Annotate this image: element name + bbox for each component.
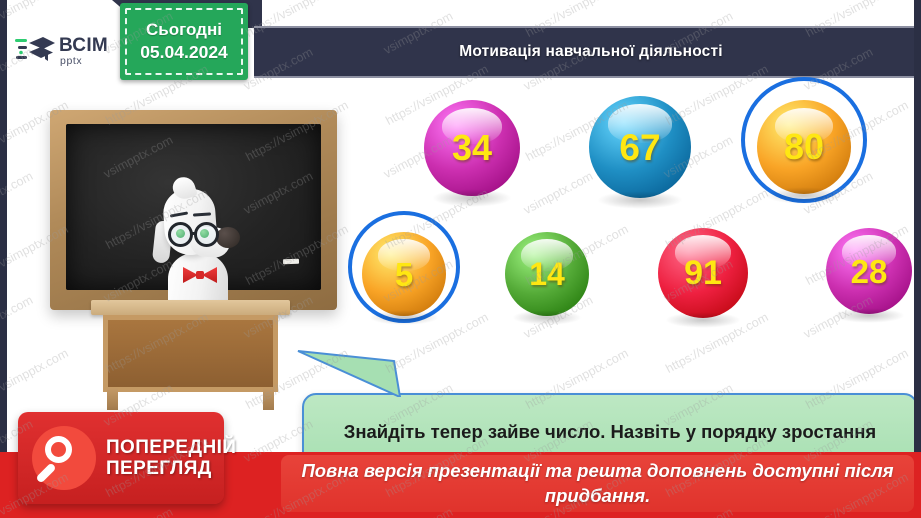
slide-root: Мотивація навчальної діяльності ВСІМ ppt…	[0, 0, 921, 518]
dog-bowtie	[183, 267, 217, 283]
number-ball-80[interactable]: 80	[757, 100, 851, 194]
date-badge: Сьогодні 05.04.2024	[120, 3, 248, 80]
number-ball-value: 80	[784, 129, 824, 165]
header-bar: Мотивація навчальної діяльності	[254, 26, 914, 78]
preview-label-line1: ПОПЕРЕДНІЙ	[106, 437, 236, 458]
brand-logo[interactable]: ВСІМ pptx	[15, 27, 115, 75]
date-badge-label: Сьогодні	[146, 20, 222, 40]
desk-leg-left	[107, 388, 118, 410]
logo-sub: pptx	[60, 56, 108, 67]
page-title: Мотивація навчальної діяльності	[459, 43, 723, 61]
number-ball-28[interactable]: 28	[826, 228, 912, 314]
graduation-cap-icon	[15, 34, 55, 68]
number-ball-value: 34	[452, 130, 492, 166]
number-ball-value: 5	[395, 258, 413, 291]
speech-bubble-tail	[290, 345, 402, 397]
purchase-notice-panel: Повна версія презентації та решта доповн…	[281, 455, 914, 512]
dog-nose	[216, 227, 240, 248]
number-ball-34[interactable]: 34	[424, 100, 520, 196]
logo-text: ВСІМ pptx	[59, 36, 108, 67]
dog-character	[142, 175, 260, 315]
desk	[91, 300, 290, 410]
preview-label-line2: ПЕРЕГЛЯД	[106, 458, 236, 479]
magnifier-icon	[32, 426, 96, 490]
number-ball-5[interactable]: 5	[362, 232, 446, 316]
dog-glasses-left	[168, 222, 193, 247]
number-ball-14[interactable]: 14	[505, 232, 589, 316]
date-badge-value: 05.04.2024	[140, 42, 228, 63]
number-ball-91[interactable]: 91	[658, 228, 748, 318]
desk-top	[91, 300, 290, 315]
desk-body	[103, 315, 278, 392]
purchase-notice-text: Повна версія презентації та решта доповн…	[281, 459, 914, 507]
dog-glasses-right	[194, 222, 219, 247]
chalk-piece	[283, 259, 299, 265]
preview-button-label: ПОПЕРЕДНІЙ ПЕРЕГЛЯД	[106, 437, 236, 480]
desk-leg-right	[263, 388, 274, 410]
number-ball-value: 14	[529, 258, 565, 290]
logo-main: ВСІМ	[59, 36, 108, 55]
number-ball-value: 28	[851, 255, 888, 288]
preview-button[interactable]: ПОПЕРЕДНІЙ ПЕРЕГЛЯД	[18, 412, 224, 504]
number-ball-67[interactable]: 67	[589, 96, 691, 198]
number-ball-value: 91	[684, 256, 722, 290]
number-ball-value: 67	[619, 129, 660, 166]
dog-glasses-bridge	[191, 232, 197, 235]
